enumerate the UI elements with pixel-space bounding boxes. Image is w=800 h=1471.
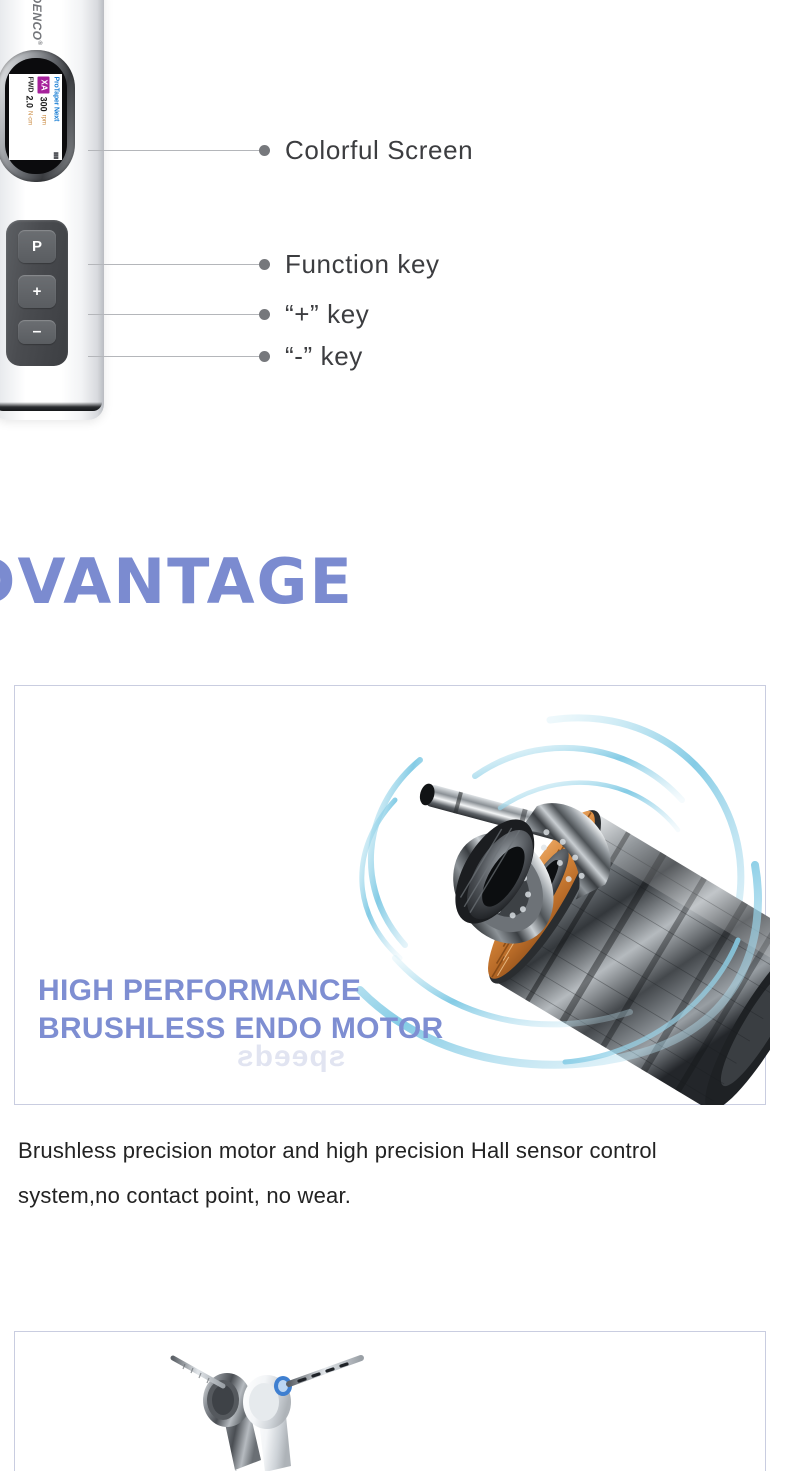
leader-line-screen: [88, 150, 260, 151]
callout-label-plus-key: “+” key: [285, 299, 369, 330]
battery-icon: ▮▮▮: [52, 151, 59, 158]
function-key[interactable]: P: [18, 230, 56, 263]
callout-dot-minus-key: [259, 351, 270, 362]
lcd-rotated-content: ProTaper Next ▮▮▮ XA 300 rpm FWD 2.0 N·c…: [9, 74, 62, 160]
lcd-row-torque: FWD 2.0 N·cm: [23, 76, 36, 158]
handpiece-heads-image: [165, 1342, 425, 1471]
callout-label-minus-key: “-” key: [285, 341, 363, 372]
lcd-speed-value: 300: [37, 96, 49, 111]
lcd-mode-badge: XA: [37, 76, 49, 93]
endo-motor-handpiece-image: DENCO® ProTaper Next ▮▮▮ XA 300 rpm FWD …: [0, 0, 106, 428]
device-bottom-edge: [0, 402, 102, 411]
callout-label-function-key: Function key: [285, 249, 440, 280]
leader-line-plus-key: [88, 314, 260, 315]
lcd-row-file: ProTaper Next ▮▮▮: [50, 76, 61, 158]
minus-key[interactable]: –: [18, 320, 56, 344]
lcd-row-speed: XA 300 rpm: [36, 76, 50, 158]
callout-dot-screen: [259, 145, 270, 156]
background-line-fan: [0, 400, 700, 660]
lcd-speed-unit: rpm: [37, 114, 49, 124]
motor-feature-heading: HIGH PERFORMANCE BRUSHLESS ENDO MOTOR: [38, 972, 443, 1048]
lcd-file-system-label: ProTaper Next: [50, 76, 61, 121]
plus-key[interactable]: +: [18, 275, 56, 308]
hero-callout-section: DENCO® ProTaper Next ▮▮▮ XA 300 rpm FWD …: [0, 0, 800, 660]
registered-mark: ®: [36, 40, 42, 45]
callout-label-colorful-screen: Colorful Screen: [285, 135, 473, 166]
device-lcd-screen: ProTaper Next ▮▮▮ XA 300 rpm FWD 2.0 N·c…: [9, 74, 62, 160]
lcd-direction-label: FWD: [24, 76, 36, 92]
leader-line-function-key: [88, 264, 260, 265]
lcd-torque-value: 2.0: [24, 95, 36, 108]
callout-dot-plus-key: [259, 309, 270, 320]
motor-feature-description: Brushless precision motor and high preci…: [18, 1128, 718, 1218]
callout-dot-function-key: [259, 259, 270, 270]
endo-file-left: [173, 1358, 223, 1386]
lcd-torque-unit: N·cm: [24, 110, 36, 124]
device-keypad: P + –: [6, 220, 68, 366]
leader-line-minus-key: [88, 356, 260, 357]
denco-logo-text: DENCO: [30, 0, 44, 40]
feature-panel-handpiece: [14, 1331, 766, 1471]
section-heading-advantage: ADVANTAGE: [0, 545, 354, 618]
